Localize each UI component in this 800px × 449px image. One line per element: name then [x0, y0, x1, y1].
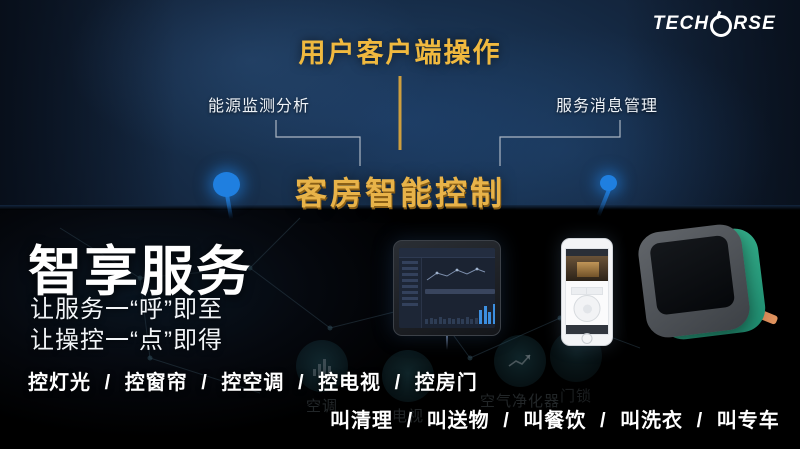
service-item: 控灯光: [28, 372, 91, 394]
service-item: 控房门: [415, 372, 478, 394]
service-separator: /: [194, 372, 215, 395]
phone-app-header: [566, 249, 608, 256]
service-separator: /: [98, 372, 119, 395]
phone-hero-image: [566, 256, 608, 281]
service-item: 叫送物: [427, 410, 490, 432]
phone-control-button[interactable]: [586, 287, 603, 295]
center-heading: 客房智能控制: [0, 168, 800, 214]
service-item: 叫专车: [717, 410, 780, 432]
service-item: 控窗帘: [125, 372, 188, 394]
phone-screen: [565, 248, 609, 335]
service-item: 控电视: [318, 372, 381, 394]
tablet-bar-chart: [425, 302, 495, 324]
speaker-screen: [649, 235, 735, 316]
tablet-line-chart: [425, 264, 487, 286]
service-separator: /: [400, 410, 421, 433]
tablet-device: [393, 240, 501, 336]
tablet-progress-strip: [425, 289, 495, 294]
service-item: 叫餐饮: [523, 410, 586, 432]
trend-line-glyph: [507, 352, 533, 370]
tablet-dashboard: [399, 258, 495, 328]
service-separator: /: [388, 372, 409, 395]
speaker-body: [636, 222, 752, 340]
service-item: 控空调: [221, 372, 284, 394]
service-row-control: 控灯光 / 控窗帘 / 控空调 / 控电视 / 控房门: [28, 366, 478, 395]
watermark-caption: 门锁: [550, 385, 602, 406]
tablet-side-panel: [399, 258, 422, 328]
hero-subtitle-1: 让服务一“呼”即至: [30, 289, 223, 324]
poster-canvas: 空调 电视 空气净化器 门锁 TECH RSE 用户客户端操作 能源监测分析 服…: [0, 0, 800, 449]
service-row-call: 叫清理 / 叫送物 / 叫餐饮 / 叫洗衣 / 叫专车: [330, 404, 780, 433]
tablet-screen: [399, 248, 495, 328]
service-item: 叫清理: [330, 410, 393, 432]
phone-home-button-icon[interactable]: [582, 333, 593, 344]
phone-dpad-control[interactable]: [574, 295, 601, 322]
trend-line-icon: [494, 335, 546, 387]
service-separator: /: [593, 410, 614, 433]
service-separator: /: [496, 410, 517, 433]
service-separator: /: [291, 372, 312, 395]
tablet-stand: [446, 336, 448, 350]
phone-device: [561, 238, 613, 346]
tablet-toolbar: [399, 248, 495, 258]
watermark-air-purifier: 空气净化器: [480, 335, 560, 411]
service-separator: /: [690, 410, 711, 433]
smart-speaker-device: [640, 228, 768, 340]
hero-subtitle-2: 让操控一“点”即得: [30, 320, 223, 355]
service-item: 叫洗衣: [620, 410, 683, 432]
